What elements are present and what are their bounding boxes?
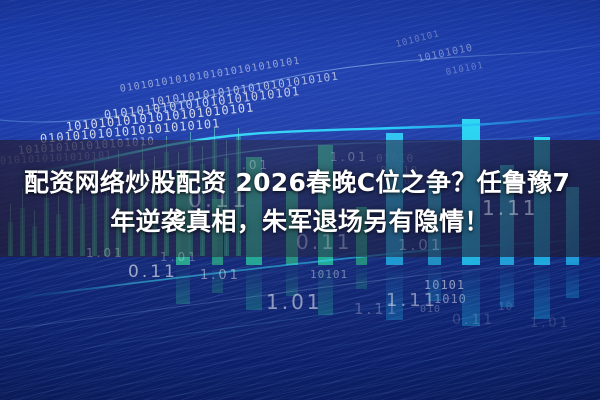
headline: 配资网络炒股配资 2026春晚C位之争？任鲁豫7 年逆袭真相，朱军退场另有隐情！ (0, 163, 600, 241)
headline-line-2: 年逆袭真相，朱军退场另有隐情！ (0, 202, 600, 241)
headline-line-1: 配资网络炒股配资 2026春晚C位之争？任鲁豫7 (0, 163, 600, 202)
banner-image: 0101010101010101010101010110101010101010… (0, 0, 600, 400)
